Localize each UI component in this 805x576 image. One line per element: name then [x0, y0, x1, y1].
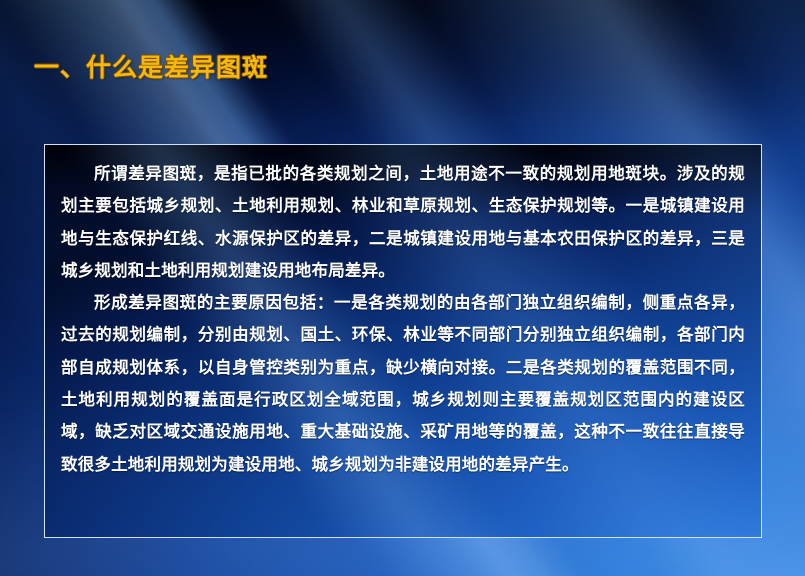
slide-title: 一、什么是差异图斑	[34, 48, 268, 84]
content-text-box: 所谓差异图斑，是指已批的各类规划之间，土地用途不一致的规划用地斑块。涉及的规划主…	[44, 144, 762, 538]
body-paragraph-1: 所谓差异图斑，是指已批的各类规划之间，土地用途不一致的规划用地斑块。涉及的规划主…	[61, 158, 745, 287]
body-paragraph-2: 形成差异图斑的主要原因包括：一是各类规划的由各部门独立组织编制，侧重点各异，过去…	[61, 287, 745, 481]
presentation-slide: 一、什么是差异图斑 所谓差异图斑，是指已批的各类规划之间，土地用途不一致的规划用…	[0, 0, 805, 576]
content-box-text: 所谓差异图斑，是指已批的各类规划之间，土地用途不一致的规划用地斑块。涉及的规划主…	[45, 145, 761, 481]
